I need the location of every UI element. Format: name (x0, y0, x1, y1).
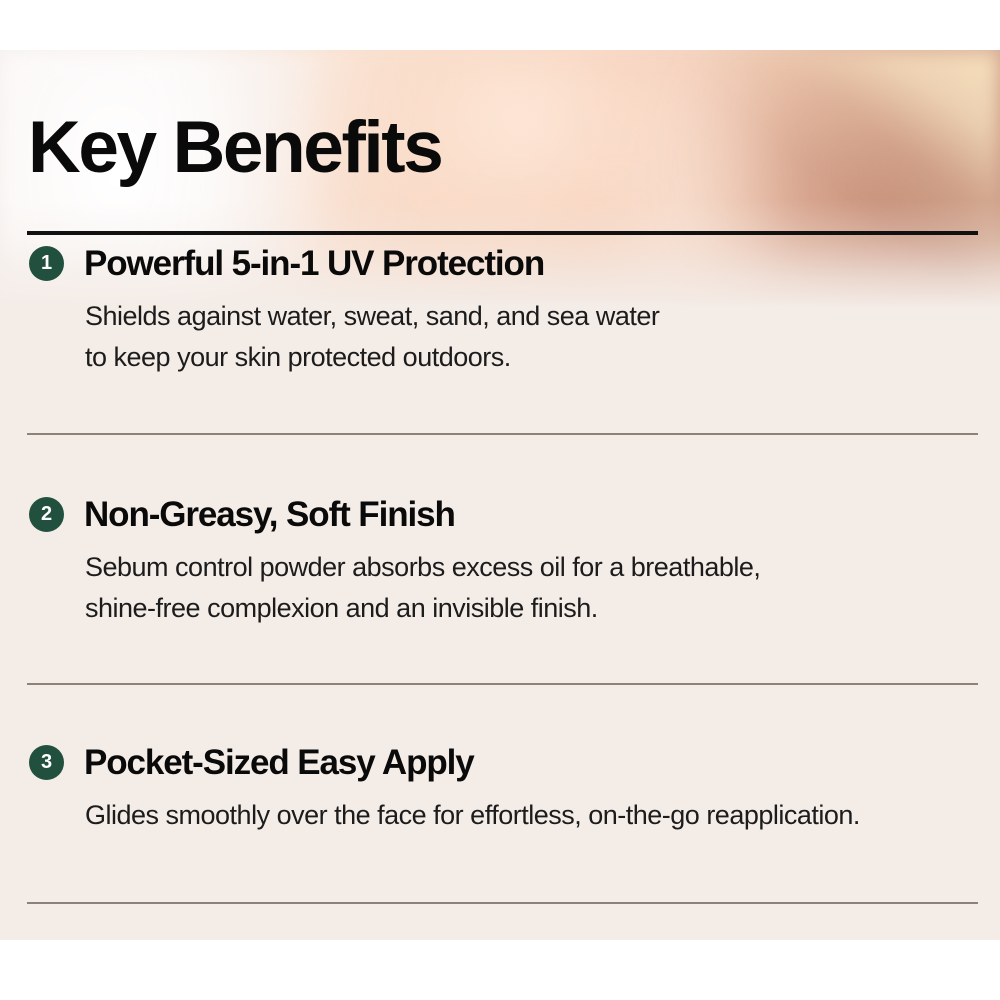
divider-3 (27, 902, 978, 904)
benefit-1-title: Powerful 5-in-1 UV Protection (84, 244, 544, 283)
page-title: Key Benefits (28, 110, 441, 187)
benefit-2-header: 2 Non-Greasy, Soft Finish (0, 493, 1000, 537)
title-underline-rule (27, 231, 978, 235)
benefit-1-description-line-1: Shields against water, sweat, sand, and … (85, 296, 1000, 337)
benefit-3-number-badge: 3 (29, 745, 64, 780)
benefit-3-description: Glides smoothly over the face for effort… (0, 795, 1000, 836)
benefit-2-description: Sebum control powder absorbs excess oil … (0, 547, 1000, 629)
benefit-2-description-line-1: Sebum control powder absorbs excess oil … (85, 547, 1000, 588)
benefit-3-title: Pocket-Sized Easy Apply (84, 743, 474, 782)
benefit-1-header: 1 Powerful 5-in-1 UV Protection (0, 242, 1000, 286)
benefit-3-header: 3 Pocket-Sized Easy Apply (0, 741, 1000, 785)
benefit-2-description-line-2: shine-free complexion and an invisible f… (85, 588, 1000, 629)
content-panel: Key Benefits 1 Powerful 5-in-1 UV Protec… (0, 50, 1000, 940)
product-benefits-page: Key Benefits 1 Powerful 5-in-1 UV Protec… (0, 0, 1000, 1000)
divider-1 (27, 433, 978, 435)
benefit-item-1: 1 Powerful 5-in-1 UV Protection Shields … (0, 242, 1000, 378)
bottom-white-band (0, 940, 1000, 1000)
benefit-1-description-line-2: to keep your skin protected outdoors. (85, 337, 1000, 378)
benefit-1-description: Shields against water, sweat, sand, and … (0, 296, 1000, 378)
benefit-1-number-badge: 1 (29, 246, 64, 281)
benefit-item-2: 2 Non-Greasy, Soft Finish Sebum control … (0, 493, 1000, 629)
benefit-2-title: Non-Greasy, Soft Finish (84, 495, 455, 534)
benefit-3-description-line-1: Glides smoothly over the face for effort… (85, 795, 1000, 836)
benefit-2-number-badge: 2 (29, 497, 64, 532)
top-white-band (0, 0, 1000, 50)
divider-2 (27, 683, 978, 685)
benefit-item-3: 3 Pocket-Sized Easy Apply Glides smoothl… (0, 741, 1000, 836)
